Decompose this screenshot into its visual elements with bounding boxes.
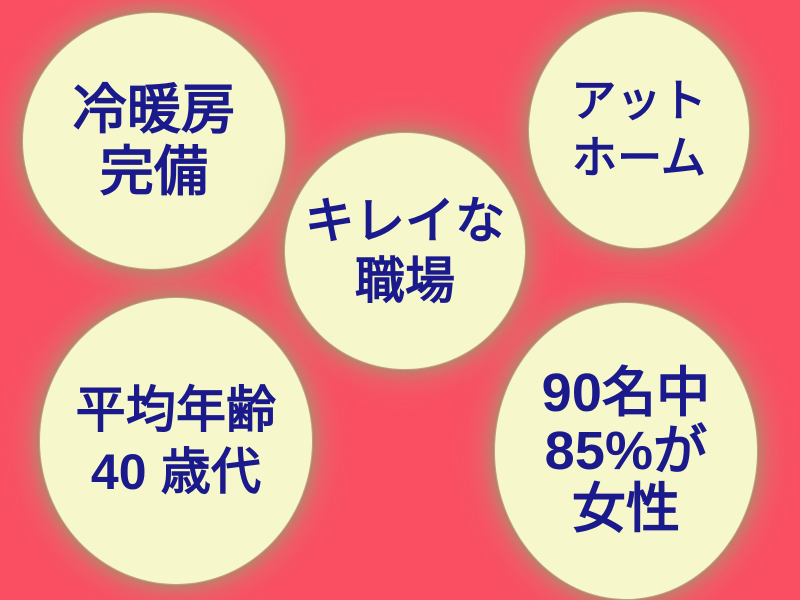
bubble-line: 40 歳代 [91, 446, 261, 498]
bubble-heating-cooling: 冷暖房 完備 [23, 13, 285, 269]
poster-canvas: 冷暖房 完備 アット ホーム キレイな 職場 平均年齢 40 歳代 90名中 8… [0, 0, 800, 600]
bubble-clean-workplace: キレイな 職場 [285, 133, 525, 369]
bubble-line: アット [571, 78, 706, 125]
bubble-line: キレイな [305, 195, 506, 247]
bubble-at-home: アット ホーム [529, 12, 749, 248]
bubble-line: 職場 [355, 255, 455, 307]
bubble-line: 冷暖房 [73, 82, 235, 138]
bubble-line: ホーム [572, 135, 706, 182]
bubble-line: 平均年齢 [76, 384, 277, 436]
bubble-line: 女性 [572, 481, 680, 537]
bubble-average-age: 平均年齢 40 歳代 [40, 298, 312, 584]
bubble-line: 85%が [545, 423, 708, 479]
bubble-line: 完備 [100, 144, 208, 200]
bubble-line: 90名中 [542, 365, 711, 421]
bubble-female-ratio: 90名中 85%が 女性 [495, 303, 757, 599]
